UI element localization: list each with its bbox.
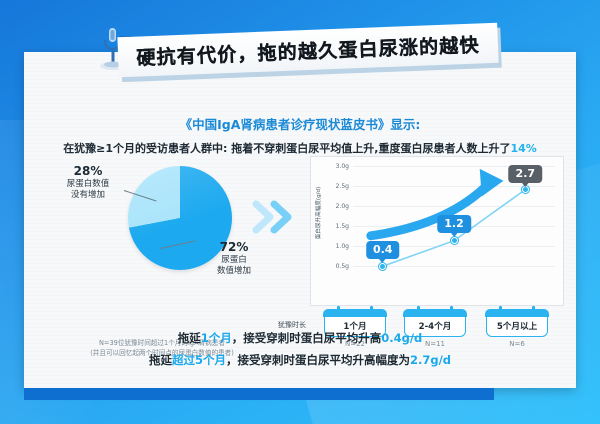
pie-label-major-caption: 尿蛋白 bbox=[196, 255, 272, 266]
pie-label-minor-percent: 28% bbox=[50, 164, 126, 179]
chip-header-3 bbox=[485, 309, 548, 317]
conclusion-line-2: 拖延超过5个月，接受穿刺时蛋白尿平均升高幅度为2.7g/d bbox=[24, 352, 576, 368]
double-chevron-right-icon bbox=[252, 200, 306, 234]
pie-label-major-caption2: 数值增加 bbox=[196, 266, 272, 277]
conclusion-1-b: 1个月 bbox=[201, 331, 232, 345]
pie-label-minor: 28% 尿蛋白数值 没有增加 bbox=[50, 164, 126, 200]
content-card: 《中国IgA肾病患者诊疗现状蓝皮书》显示: 在犹豫≥1个月的受访患者人群中: 拖… bbox=[24, 52, 576, 388]
y-tick-2: 1.0g bbox=[323, 243, 349, 250]
conclusion-line-1: 拖延1个月，接受穿刺时蛋白尿平均升高0.4g/d bbox=[24, 330, 576, 346]
pie-label-major: 72% 尿蛋白 数值增加 bbox=[196, 240, 272, 276]
data-label-1: 0.4 bbox=[366, 241, 400, 259]
report-summary-text: 在犹豫≥1个月的受访患者人群中: 拖着不穿刺蛋白尿平均值上升,重度蛋白尿患者人数… bbox=[63, 142, 510, 155]
report-source-title: 《中国IgA肾病患者诊疗现状蓝皮书》显示: bbox=[24, 114, 576, 133]
data-point-3 bbox=[522, 186, 529, 193]
infographic-page: 《中国IgA肾病患者诊疗现状蓝皮书》显示: 在犹豫≥1个月的受访患者人群中: 拖… bbox=[0, 0, 600, 424]
line-chart-y-axis-title: 蛋白尿升高幅度(g/d) bbox=[314, 69, 324, 165]
x-axis-row-label: 犹豫时长 bbox=[278, 320, 306, 330]
conclusion-1-a: 拖延 bbox=[178, 331, 201, 345]
line-chart: 蛋白尿升高幅度(g/d) 3.0g 2.5g 2.0g 1.5g 1.0g 0.… bbox=[310, 156, 564, 306]
report-summary: 在犹豫≥1个月的受访患者人群中: 拖着不穿刺蛋白尿平均值上升,重度蛋白尿患者人数… bbox=[24, 140, 576, 156]
y-tick-5: 2.5g bbox=[323, 183, 349, 190]
y-tick-1: 0.5g bbox=[323, 263, 349, 270]
data-point-2 bbox=[451, 237, 458, 244]
conclusion-1-c: ，接受穿刺时蛋白尿平均升高 bbox=[232, 331, 382, 345]
report-summary-highlight: 14% bbox=[510, 142, 536, 155]
data-label-3: 2.7 bbox=[509, 165, 543, 183]
chip-header-1 bbox=[323, 309, 386, 317]
page-title: 硬抗有代价，拖的越久蛋白尿涨的越快 bbox=[136, 30, 480, 70]
data-point-1 bbox=[379, 263, 386, 270]
y-tick-6: 3.0g bbox=[323, 163, 349, 170]
y-tick-4: 2.0g bbox=[323, 203, 349, 210]
conclusion-2-a: 拖延 bbox=[149, 353, 172, 367]
card-bottom-accent-bar bbox=[24, 388, 494, 400]
pie-label-minor-caption2: 没有增加 bbox=[50, 190, 126, 201]
data-label-2: 1.2 bbox=[437, 215, 471, 233]
conclusion-2-c: ，接受穿刺时蛋白尿平均升高幅度为 bbox=[226, 353, 410, 367]
conclusion-2-b: 超过5个月 bbox=[172, 353, 226, 367]
conclusion-1-d: 0.4g/d bbox=[381, 331, 422, 345]
line-chart-plot-area: 0.4 1.2 2.7 bbox=[353, 165, 555, 283]
pie-chart: 28% 尿蛋白数值 没有增加 72% 尿蛋白 数值增加 N=39位犹豫时间超过1… bbox=[32, 162, 272, 322]
title-banner: 硬抗有代价，拖的越久蛋白尿涨的越快 bbox=[117, 23, 498, 78]
conclusion-2-d: 2.7g/d bbox=[410, 353, 451, 367]
chip-header-2 bbox=[403, 309, 466, 317]
pie-label-major-percent: 72% bbox=[196, 240, 272, 255]
pie-label-minor-caption: 尿蛋白数值 bbox=[50, 179, 126, 190]
y-tick-3: 1.5g bbox=[323, 223, 349, 230]
